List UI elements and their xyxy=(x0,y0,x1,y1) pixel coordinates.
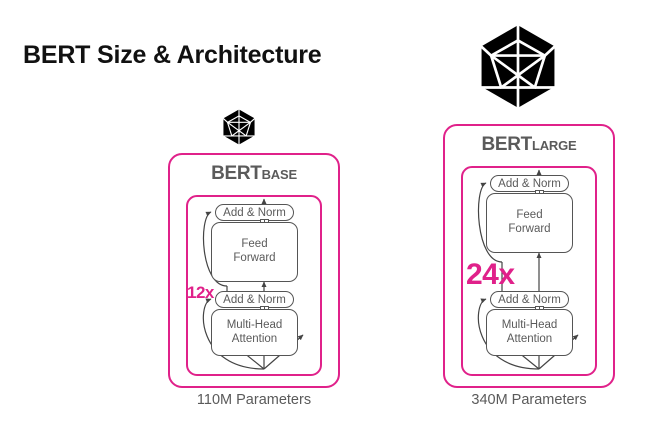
attention-line2: Attention xyxy=(502,333,558,347)
add-norm-label: Add & Norm xyxy=(498,178,561,190)
bert-large-multi-head-attention: Multi-Head Attention xyxy=(486,309,573,356)
bert-large-add-norm-bottom: Add & Norm xyxy=(490,291,569,308)
attention-line1: Multi-Head xyxy=(502,319,558,333)
slide-canvas: BERT Size & Architecture xyxy=(0,0,648,446)
bert-large-add-norm-top: Add & Norm xyxy=(490,175,569,192)
feed-forward-line2: Forward xyxy=(508,223,550,237)
bert-large-repeat-label: 24x xyxy=(466,258,515,292)
feed-forward-line1: Feed xyxy=(508,209,550,223)
add-norm-label: Add & Norm xyxy=(498,294,561,306)
bert-large-feed-forward: Feed Forward xyxy=(486,193,573,253)
bert-large-parameters: 340M Parameters xyxy=(443,392,615,408)
